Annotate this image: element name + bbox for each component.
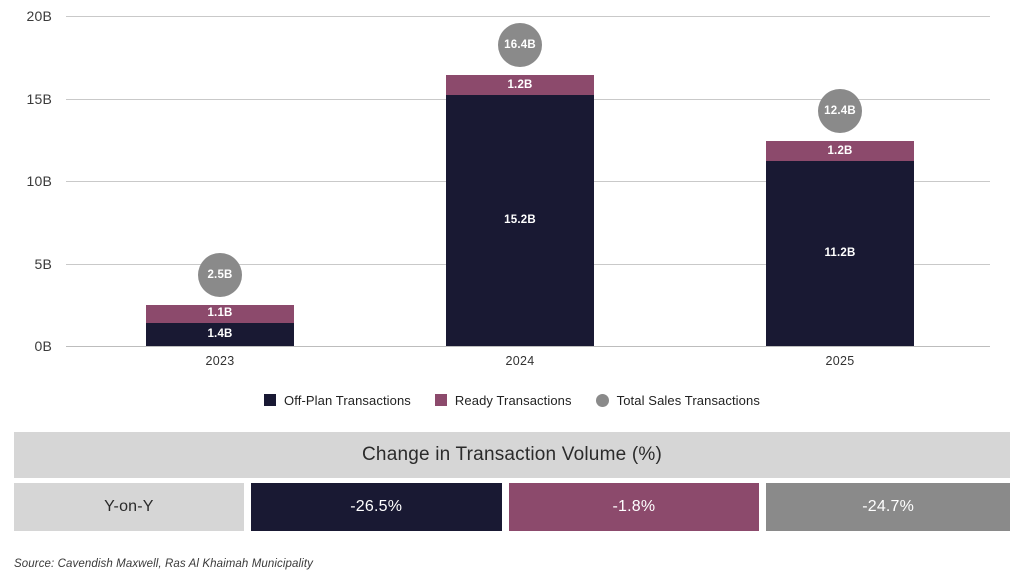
legend-label-off-plan: Off-Plan Transactions <box>284 393 411 408</box>
legend-swatch-icon-off-plan <box>264 394 276 406</box>
table-cell-off-plan-change: -26.5% <box>251 483 502 531</box>
x-axis-tick-2023: 2023 <box>146 354 294 370</box>
source-note: Source: Cavendish Maxwell, Ras Al Khaima… <box>14 558 313 570</box>
chart-legend: Off-Plan Transactions Ready Transactions… <box>0 388 1024 412</box>
y-axis-tick-10b: 10B <box>26 173 52 189</box>
table-cell-ready-change: -1.8% <box>509 483 760 531</box>
legend-label-ready: Ready Transactions <box>455 393 572 408</box>
legend-item-total[interactable]: Total Sales Transactions <box>596 393 760 408</box>
table-row: Y-on-Y -26.5% -1.8% -24.7% <box>14 483 1010 531</box>
bar-value-label-off-plan-2024: 15.2B <box>504 215 536 227</box>
y-axis-tick-15b: 15B <box>26 91 52 107</box>
bar-segment-off-plan-2023[interactable]: 1.4B <box>146 323 294 346</box>
legend-swatch-icon-total <box>596 394 609 407</box>
total-bubble-label-2025: 12.4B <box>824 105 856 117</box>
bar-segment-off-plan-2025[interactable]: 11.2B <box>766 161 914 346</box>
bar-segment-ready-2023[interactable]: 1.1B <box>146 305 294 323</box>
total-bubble-label-2024: 16.4B <box>504 39 536 51</box>
legend-item-off-plan[interactable]: Off-Plan Transactions <box>264 393 411 408</box>
bar-value-label-off-plan-2025: 11.2B <box>824 248 855 260</box>
bar-value-label-ready-2024: 1.2B <box>507 80 532 92</box>
change-table: Change in Transaction Volume (%) Y-on-Y … <box>14 432 1010 531</box>
bar-value-label-ready-2025: 1.2B <box>827 146 852 158</box>
plot-area: 1.1B1.4B20232.5B1.2B15.2B202416.4B1.2B11… <box>66 0 990 378</box>
legend-item-ready[interactable]: Ready Transactions <box>435 393 572 408</box>
chart-page: 20B 15B 10B 5B 0B 1.1B1.4B20232.5B1.2B15… <box>0 0 1024 582</box>
bar-segment-ready-2024[interactable]: 1.2B <box>446 75 594 95</box>
table-cell-total-change: -24.7% <box>766 483 1010 531</box>
total-bubble-2023[interactable]: 2.5B <box>198 253 242 297</box>
total-bubble-2024[interactable]: 16.4B <box>498 23 542 67</box>
table-cell-row-label: Y-on-Y <box>14 483 244 531</box>
bar-value-label-off-plan-2023: 1.4B <box>207 329 232 341</box>
y-axis-labels: 20B 15B 10B 5B 0B <box>0 0 60 378</box>
legend-label-total: Total Sales Transactions <box>617 393 760 408</box>
bar-value-label-ready-2023: 1.1B <box>207 308 232 320</box>
table-header-title: Change in Transaction Volume (%) <box>362 444 662 466</box>
bar-group-2025: 1.2B11.2B <box>766 141 914 346</box>
bar-group-2023: 1.1B1.4B <box>146 305 294 346</box>
bar-segment-ready-2025[interactable]: 1.2B <box>766 141 914 161</box>
bar-group-2024: 1.2B15.2B <box>446 75 594 346</box>
total-bubble-label-2023: 2.5B <box>207 269 232 281</box>
y-axis-tick-0b: 0B <box>34 338 52 354</box>
table-header-band: Change in Transaction Volume (%) <box>14 432 1010 478</box>
x-axis-tick-2024: 2024 <box>446 354 594 370</box>
bar-segment-off-plan-2024[interactable]: 15.2B <box>446 95 594 346</box>
y-axis-tick-5b: 5B <box>34 256 52 272</box>
x-axis-tick-2025: 2025 <box>766 354 914 370</box>
chart-canvas: 20B 15B 10B 5B 0B 1.1B1.4B20232.5B1.2B15… <box>0 0 1024 378</box>
legend-swatch-icon-ready <box>435 394 447 406</box>
total-bubble-2025[interactable]: 12.4B <box>818 89 862 133</box>
bars-container: 1.1B1.4B20232.5B1.2B15.2B202416.4B1.2B11… <box>66 0 990 378</box>
y-axis-tick-20b: 20B <box>26 8 52 24</box>
